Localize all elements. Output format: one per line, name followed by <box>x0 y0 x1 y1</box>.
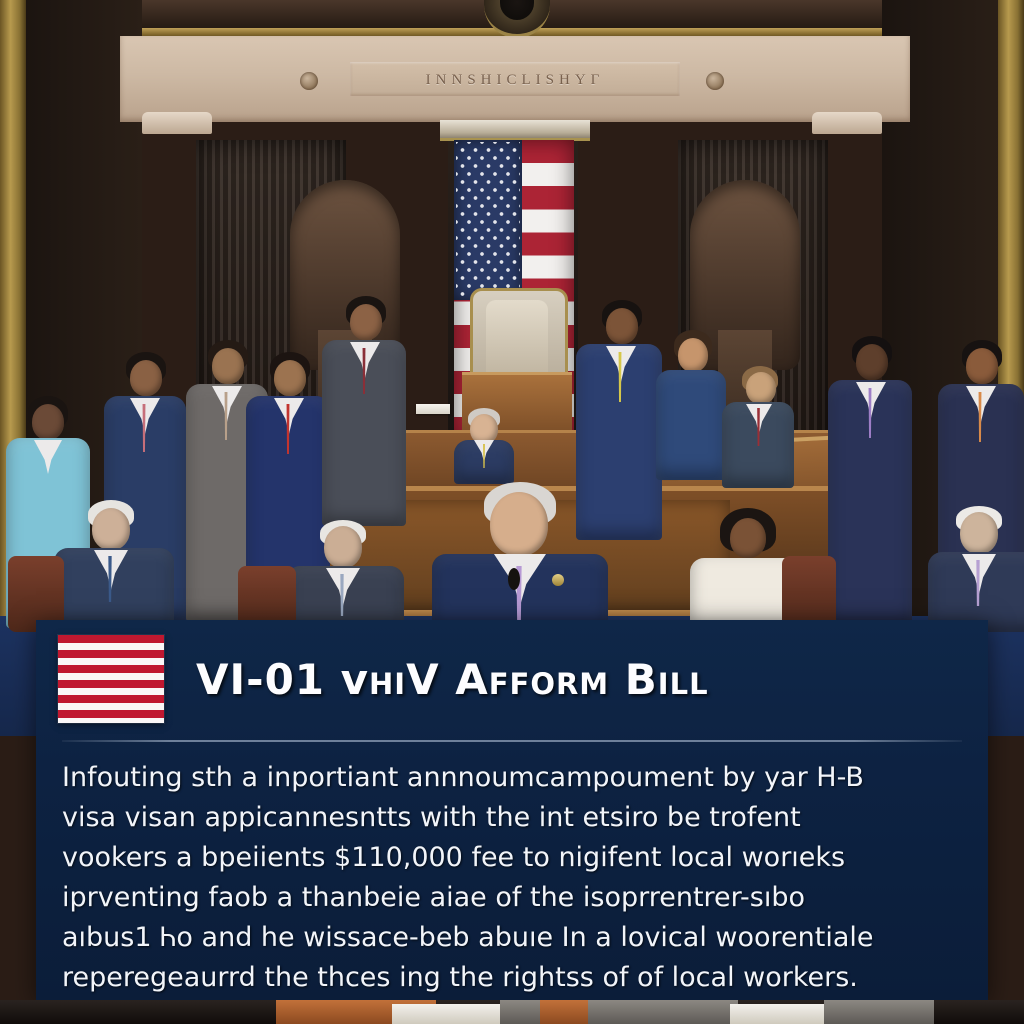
standing-person-8 <box>722 366 794 486</box>
microphone-icon <box>508 568 520 590</box>
banner-body-line-6: reperegeaurrd the thces ing the rightss … <box>62 958 962 998</box>
person-head <box>856 344 888 380</box>
foreground-gray-3 <box>824 1000 934 1024</box>
seated-clerk <box>452 408 516 478</box>
banner-title: VI-01 ᴠнiV Afform Bill <box>196 655 709 704</box>
person-head <box>324 526 362 568</box>
podium-speaker <box>432 482 608 632</box>
person-head <box>130 360 162 396</box>
banner-body-line-3: vookers a bpeiients $110,000 fee to nigi… <box>62 838 962 878</box>
banner-header: VI-01 ᴠнiV Afform Bill <box>36 620 988 738</box>
alcove-valance <box>440 120 590 141</box>
seated-person-4 <box>928 506 1024 632</box>
person-head <box>730 518 766 558</box>
speaker-chair <box>486 300 548 372</box>
seated-person-2 <box>286 520 404 632</box>
speaker-head <box>490 492 548 556</box>
banner-body-line-5: aıbus1 Ꮒo and he wissace-beb abuıe In a … <box>62 918 962 958</box>
banner-body-line-2: visa visan appicannesntts with the int e… <box>62 798 962 838</box>
desk-paper-3 <box>416 404 450 414</box>
announcement-banner: VI-01 ᴠнiV Afform Bill Infouting sth a i… <box>36 620 988 1000</box>
person-body <box>656 370 726 480</box>
pilaster-capital-right <box>812 112 882 134</box>
american-flag-stripes-icon <box>58 635 164 723</box>
person-head <box>212 348 244 384</box>
person-head <box>32 404 64 440</box>
person-head <box>678 338 708 372</box>
frieze-inscription-text: INNSHICLISHYΓ <box>350 68 680 92</box>
foreground-gray-2 <box>588 1000 738 1024</box>
standing-person-5 <box>322 296 406 526</box>
person-head <box>274 360 306 396</box>
banner-body-text: Infouting sth a inportiant annnoumcampou… <box>62 758 962 998</box>
banner-body-line-1: Infouting sth a inportiant annnoumcampou… <box>62 758 962 798</box>
person-head <box>92 508 130 550</box>
foreground-paper-1 <box>392 1004 502 1024</box>
standing-person-7 <box>656 330 726 480</box>
person-head <box>960 512 998 554</box>
foreground-paper-2 <box>730 1004 826 1024</box>
person-head <box>350 304 382 340</box>
pilaster-capital-left <box>142 112 212 134</box>
frieze-rosette-right <box>706 72 724 90</box>
foreground-gray-1 <box>500 1000 544 1024</box>
frieze-rosette-left <box>300 72 318 90</box>
flag-stars <box>456 142 520 298</box>
standing-person-9 <box>828 336 912 626</box>
person-head <box>606 308 638 344</box>
banner-divider <box>62 740 962 742</box>
lapel-pin-icon <box>552 574 564 586</box>
banner-body-line-4: iprventing faob a thanbeie aiae of the i… <box>62 878 962 918</box>
seated-person-1 <box>54 500 174 630</box>
person-head <box>746 372 776 404</box>
person-head <box>966 348 998 384</box>
foreground-wood-2 <box>540 1000 588 1024</box>
screenshot-scene: INNSHICLISHYΓ <box>0 0 1024 1024</box>
